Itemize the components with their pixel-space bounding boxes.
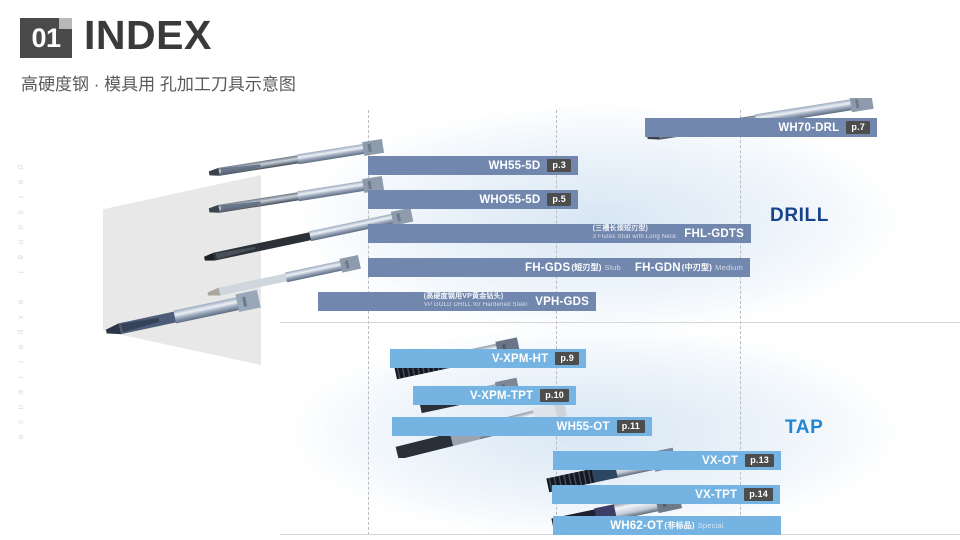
page-title: INDEX [84,12,212,59]
page-chip[interactable]: p.10 [540,389,569,402]
page-chip[interactable]: p.13 [745,454,774,467]
tool-subtitle: (高硬度钢用VP黄金钻头) VP GOLD DRILL for Hardened… [424,293,527,309]
label-bar-v-xpm-ht[interactable]: V-XPM-HT p.9 [390,349,586,368]
label-bar-v-xpm-tpt[interactable]: V-XPM-TPT p.10 [413,386,576,405]
label-bar-vx-tpt[interactable]: VX-TPT p.14 [552,485,780,504]
label-bar-wh62-ot[interactable]: WH62-OT (非标品) Special [553,516,781,535]
page-chip[interactable]: p.9 [555,352,579,365]
tool-subtitle-en: Special [698,521,724,530]
page-header: 01 INDEX 高硬度钢 · 模具用 孔加工刀具示意图 [0,0,960,100]
tool-name: WH62-OT [610,520,663,532]
tool-subtitle-cn: (三槽长颈短刃型) [593,225,677,234]
badge-fold-corner [59,18,72,29]
tool-subtitle-en: VP GOLD DRILL for Hardened Steel [424,302,527,310]
tool-subtitle-en: Stub [605,263,621,272]
page-subtitle: 高硬度钢 · 模具用 孔加工刀具示意图 [21,70,296,95]
tool-name: WH55-5D [489,160,541,172]
page-chip[interactable]: p.11 [617,420,645,433]
section-title-tap: TAP [785,417,823,439]
tool-diagram: DRILL TAP WH70-DRL p.7 WH55-5D p.3 WHO55… [0,100,960,540]
label-bar-fhl-gdts[interactable]: (三槽长颈短刃型) 3 Flutes Stub with Long Neck F… [368,224,751,243]
section-title-drill: DRILL [770,205,829,227]
tool-subtitle-cn: (非标品) [664,520,694,531]
tool-name: FHL-GDTS [684,228,744,240]
page-chip[interactable]: p.7 [846,121,870,134]
tool-subtitle-en: 3 Flutes Stub with Long Neck [593,234,677,242]
tool-subtitle-cn: (短刃型) [571,262,601,273]
label-bar-wh55-ot[interactable]: WH55-OT p.11 [392,417,652,436]
label-bar-wh55-5d[interactable]: WH55-5D p.3 [368,156,578,175]
label-bar-vx-ot[interactable]: VX-OT p.13 [553,451,781,470]
index-number-text: 01 [31,23,60,53]
tool-name: VX-TPT [695,489,737,501]
tool-subtitle-en-secondary: Medium [715,263,743,272]
tool-subtitle-cn: (高硬度钢用VP黄金钻头) [424,293,527,302]
tool-name: V-XPM-TPT [470,390,533,402]
page-chip[interactable]: p.3 [547,159,571,172]
label-bar-fh-gds-gdn[interactable]: FH-GDS (短刃型) Stub FH-GDN (中刃型) Medium [368,258,750,277]
section-divider [280,322,960,323]
tool-name: V-XPM-HT [492,353,549,365]
tool-name: WHO55-5D [479,194,540,206]
label-bar-who55-5d[interactable]: WHO55-5D p.5 [368,190,578,209]
tool-name: FH-GDS [525,262,570,274]
tool-name: VPH-GDS [535,296,589,308]
tool-name-secondary: FH-GDN [635,262,681,274]
tool-name: VX-OT [702,455,738,467]
index-number-badge: 01 [20,18,72,58]
page-chip[interactable]: p.5 [547,193,571,206]
label-bar-vph-gds[interactable]: (高硬度钢用VP黄金钻头) VP GOLD DRILL for Hardened… [318,292,596,311]
tool-name: WH55-OT [557,421,610,433]
tool-subtitle: (三槽长颈短刃型) 3 Flutes Stub with Long Neck [593,225,677,241]
tool-subtitle-cn-secondary: (中刃型) [682,262,712,273]
label-bar-wh70-drl[interactable]: WH70-DRL p.7 [645,118,877,137]
page-chip[interactable]: p.14 [744,488,773,501]
tool-image-vph-gds [96,283,296,338]
tool-name: WH70-DRL [778,122,839,134]
